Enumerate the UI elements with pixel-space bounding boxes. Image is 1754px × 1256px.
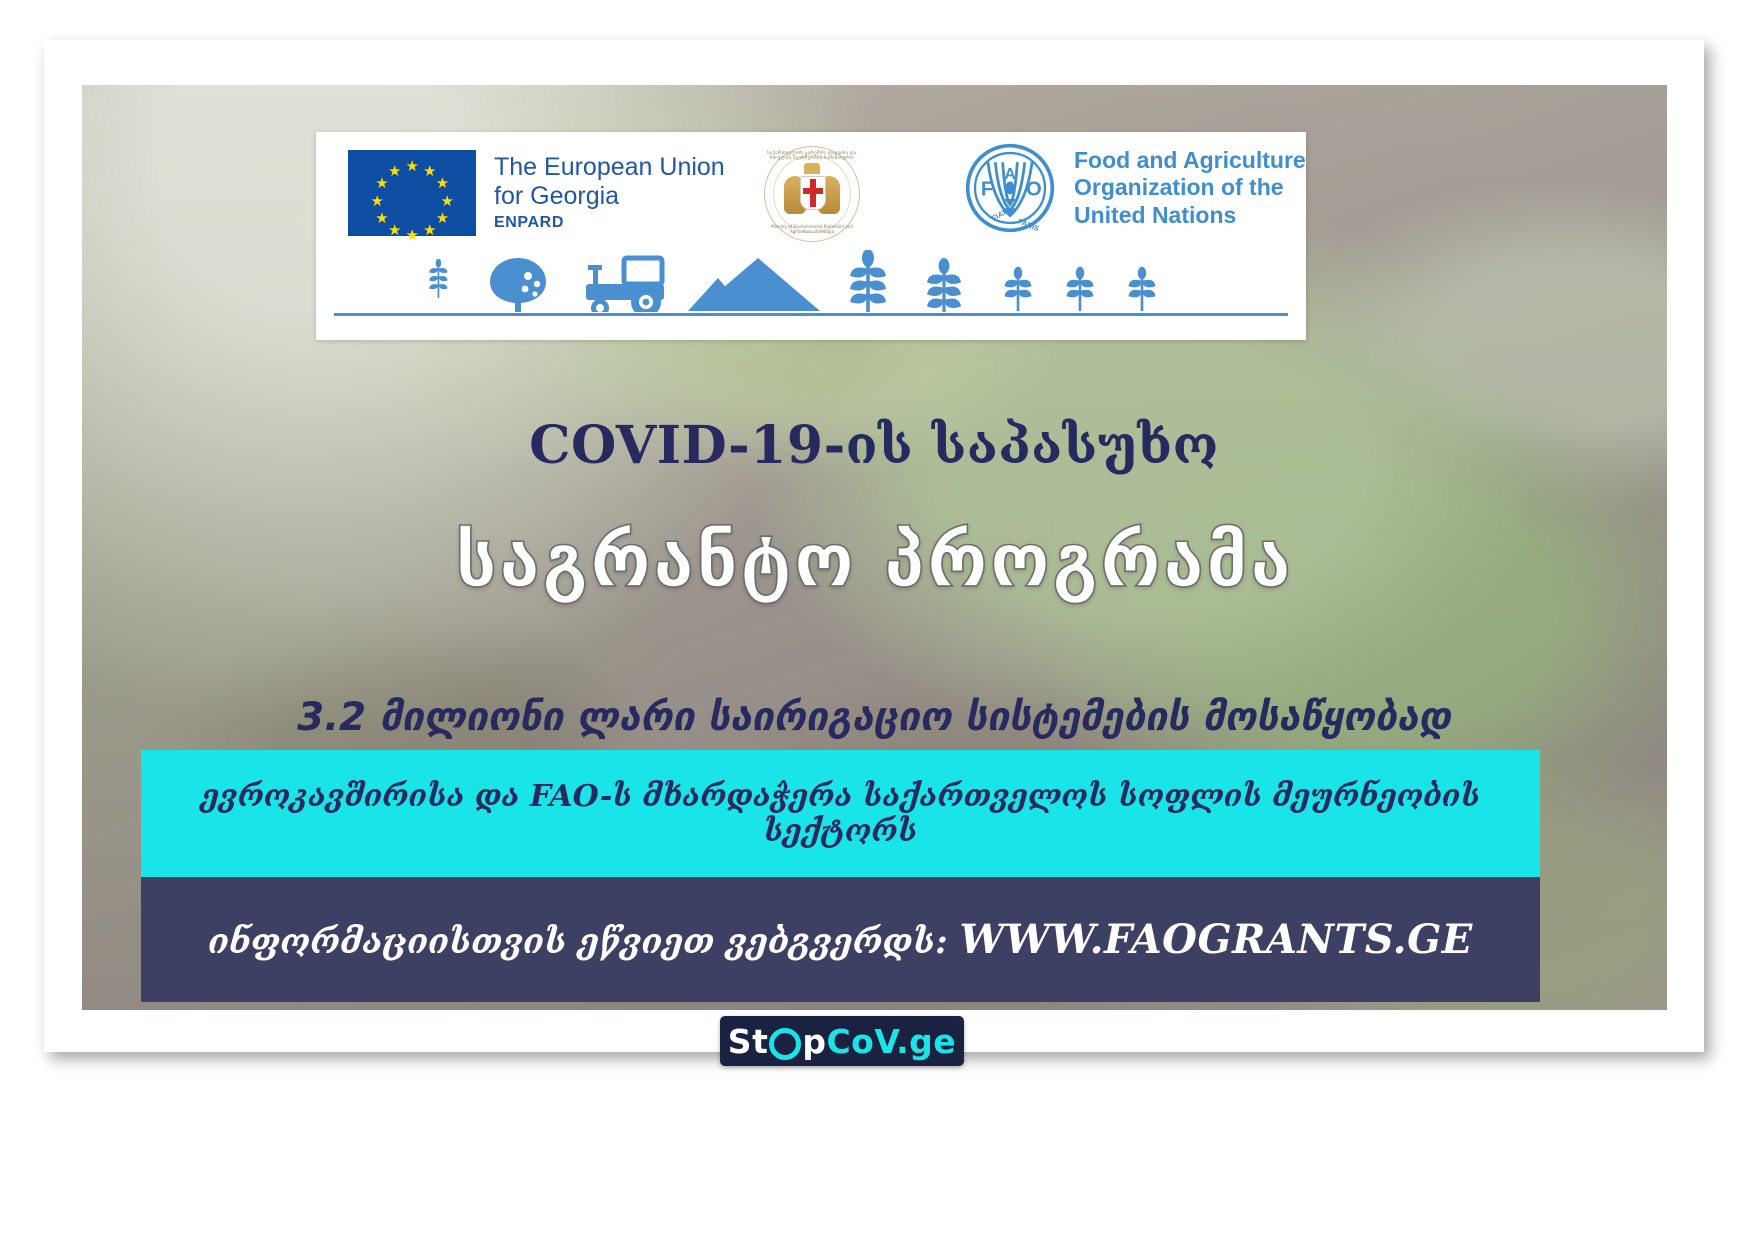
- stopcov-word2: CoV.ge: [826, 1022, 956, 1061]
- slide-frame: ★ ★ ★ ★ ★ ★ ★ ★ ★ ★ ★ ★ The Europe: [44, 40, 1704, 1052]
- fao-emblem-icon: F A O FIAT PANIS: [964, 142, 1056, 234]
- wheat-icon: [927, 258, 961, 312]
- wheat-icon: [429, 259, 448, 298]
- svg-text:A: A: [1004, 166, 1015, 183]
- logo-banner: ★ ★ ★ ★ ★ ★ ★ ★ ★ ★ ★ ★ The Europe: [316, 132, 1306, 340]
- wheat-icon: [1005, 267, 1032, 311]
- website-url[interactable]: WWW.FAOGRANTS.GE: [960, 916, 1473, 963]
- fao-logo-text: Food and Agriculture Organization of the…: [1074, 147, 1306, 228]
- svg-text:F: F: [981, 178, 993, 200]
- navy-banner-text: ინფორმაციისთვის ეწვიეთ ვებგვერდს: WWW.FA…: [184, 916, 1497, 963]
- pictogram-strip: [316, 250, 1306, 316]
- stopcov-logo[interactable]: StpCoV.ge: [720, 1016, 964, 1066]
- fao-line1: Food and Agriculture: [1074, 147, 1306, 174]
- navy-banner: ინფორმაციისთვის ეწვიეთ ვებგვერდს: WWW.FA…: [141, 877, 1540, 1002]
- fao-logo: F A O FIAT PANIS Food and Agriculture Or…: [964, 142, 1306, 234]
- cyan-banner-text: ევროკავშირისა და FAO-ს მხარდაჭერა საქართ…: [141, 779, 1540, 849]
- eu-line1: The European Union: [494, 153, 725, 182]
- subtitle: 3.2 მილიონი ლარი საირიგაციო სისტემების მ…: [44, 695, 1704, 740]
- stopcov-o-ring-icon: [769, 1028, 801, 1060]
- tree-icon: [490, 258, 546, 312]
- stopcov-word1b: p: [802, 1022, 826, 1061]
- wheat-icon: [1129, 267, 1156, 311]
- logo-row: ★ ★ ★ ★ ★ ★ ★ ★ ★ ★ ★ ★ The Europe: [316, 132, 1306, 254]
- seal-arc-text: საქართველოს გარემოს დაცვისა და სოფლის მე…: [764, 151, 860, 161]
- pictogram-svg: [416, 250, 1206, 312]
- eu-logo-text: The European Union for Georgia ENPARD: [494, 153, 725, 232]
- page-title: საგრანტო პროგრამა: [44, 518, 1704, 604]
- seal-bottom-text: Ministry of Environmental Protection and…: [764, 224, 860, 234]
- tractor-icon: [586, 258, 664, 312]
- wheat-icon: [850, 250, 886, 312]
- stopcov-word1: St: [728, 1022, 769, 1061]
- eu-line3-enpard: ENPARD: [494, 214, 725, 232]
- eyebrow-title: COVID-19-ის საპასუხო: [44, 415, 1704, 476]
- fao-line2: Organization of the: [1074, 174, 1306, 201]
- eu-flag-icon: ★ ★ ★ ★ ★ ★ ★ ★ ★ ★ ★ ★: [348, 150, 476, 236]
- georgia-ministry-seal-icon: საქართველოს გარემოს დაცვისა და სოფლის მე…: [764, 146, 860, 242]
- eu-logo: ★ ★ ★ ★ ★ ★ ★ ★ ★ ★ ★ ★ The Europe: [348, 150, 725, 236]
- poster-page: ★ ★ ★ ★ ★ ★ ★ ★ ★ ★ ★ ★ The Europe: [0, 0, 1754, 1256]
- cyan-banner: ევროკავშირისა და FAO-ს მხარდაჭერა საქართ…: [141, 750, 1540, 877]
- banner-divider-rule: [334, 313, 1288, 316]
- svg-text:O: O: [1026, 178, 1042, 200]
- eu-line2: for Georgia: [494, 182, 725, 211]
- seal-crown: [804, 163, 820, 174]
- wheat-icon: [1067, 267, 1094, 311]
- seal-shield: [800, 176, 826, 210]
- mountain-icon: [688, 258, 820, 311]
- navy-banner-label: ინფორმაციისთვის ეწვიეთ ვებგვერდს:: [208, 922, 947, 962]
- fao-line3: United Nations: [1074, 202, 1306, 229]
